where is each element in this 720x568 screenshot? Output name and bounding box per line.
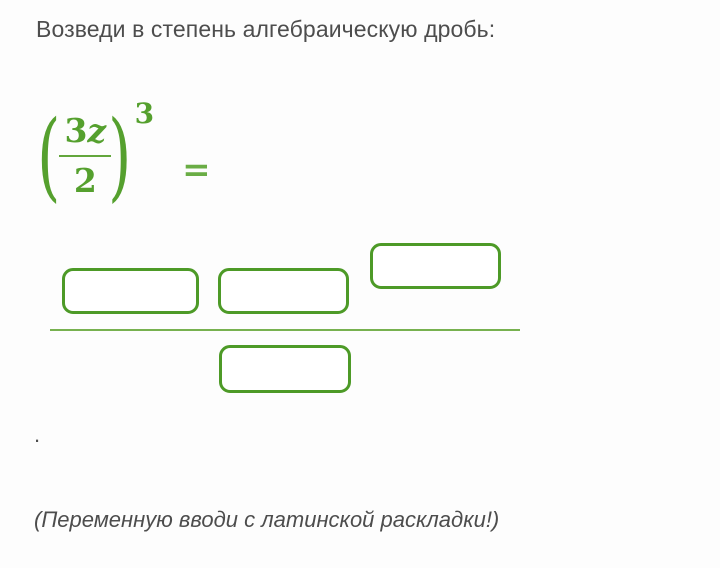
expression-fraction: 3z 2 xyxy=(59,111,111,201)
open-paren: ( xyxy=(37,108,60,204)
numerator-exponent-input[interactable] xyxy=(370,243,501,289)
expression-denominator: 2 xyxy=(69,161,102,201)
numerator-coefficient-input[interactable] xyxy=(62,268,199,314)
answer-fraction-bar xyxy=(50,329,520,331)
denominator-input[interactable] xyxy=(219,345,351,393)
expression-numerator-coefficient: 3 xyxy=(64,111,87,150)
expression-numerator: 3z xyxy=(59,111,111,151)
numerator-variable-input[interactable] xyxy=(218,268,349,314)
math-expression: ( 3z 2 ) 3 = xyxy=(36,98,211,214)
expression-exponent: 3 xyxy=(135,100,154,128)
hint-note: (Переменную вводи с латинской раскладки!… xyxy=(34,506,499,534)
expression-numerator-variable: z xyxy=(87,111,106,150)
close-paren: ) xyxy=(108,108,131,204)
page-title: Возведи в степень алгебраическую дробь: xyxy=(36,14,495,44)
trailing-period: . xyxy=(34,424,40,446)
equals-sign: = xyxy=(182,150,211,190)
expression-fraction-bar xyxy=(59,155,111,157)
